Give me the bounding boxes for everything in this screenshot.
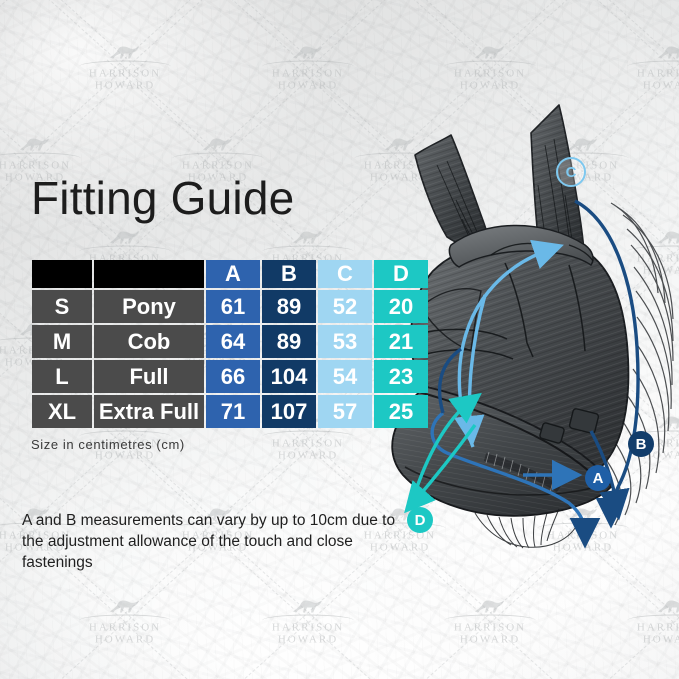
cell-size: XL [32, 395, 92, 428]
logo-arc [262, 615, 354, 621]
table-row: LFull661045423 [32, 360, 428, 393]
horse-logo-icon [248, 599, 368, 614]
cell-c: 52 [318, 290, 372, 323]
logo-arc [172, 153, 264, 159]
cell-c: 53 [318, 325, 372, 358]
logo-arc [79, 246, 171, 252]
brand-watermark: HARRISONHOWARD [613, 599, 679, 646]
horse-logo-icon [65, 230, 185, 245]
cell-d: 25 [374, 395, 428, 428]
watermark-line1: HARRISON [613, 622, 679, 634]
brand-watermark: HARRISONHOWARD [430, 599, 550, 646]
header-col-c: C [318, 260, 372, 288]
logo-arc [79, 61, 171, 67]
watermark-line2: HOWARD [248, 80, 368, 92]
brand-watermark: HARRISONHOWARD [65, 45, 185, 92]
watermark-line2: HOWARD [613, 634, 679, 646]
watermark-line1: HARRISON [430, 622, 550, 634]
logo-arc [79, 431, 171, 437]
watermark-line1: HARRISON [65, 68, 185, 80]
table-header-row: A B C D [32, 260, 428, 288]
header-blank-name [94, 260, 204, 288]
cell-a: 66 [206, 360, 260, 393]
watermark-line1: HARRISON [0, 160, 95, 172]
horse-logo-icon [248, 45, 368, 60]
cell-a: 61 [206, 290, 260, 323]
logo-arc [444, 61, 536, 67]
table-row: MCob64895321 [32, 325, 428, 358]
marker-c: C [556, 157, 586, 187]
logo-arc [0, 153, 81, 159]
watermark-line2: HOWARD [430, 634, 550, 646]
watermark-line2: HOWARD [248, 634, 368, 646]
horse-logo-icon [158, 137, 278, 152]
brand-watermark: HARRISONHOWARD [248, 599, 368, 646]
header-col-d: D [374, 260, 428, 288]
cell-d: 23 [374, 360, 428, 393]
brand-watermark: HARRISONHOWARD [65, 599, 185, 646]
horse-logo-icon [248, 230, 368, 245]
brand-watermark: HARRISONHOWARD [248, 45, 368, 92]
horse-logo-icon [0, 137, 95, 152]
watermark-line2: HOWARD [248, 450, 368, 462]
watermark-line1: HARRISON [248, 622, 368, 634]
cell-b: 104 [262, 360, 316, 393]
marker-a: A [585, 465, 611, 491]
watermark-line1: HARRISON [613, 68, 679, 80]
measurement-disclaimer: A and B measurements can vary by up to 1… [22, 510, 412, 573]
horse-logo-icon [613, 45, 679, 60]
cell-c: 57 [318, 395, 372, 428]
fitting-guide-image: HARRISONHOWARDHARRISONHOWARDHARRISONHOWA… [0, 0, 679, 679]
watermark-line1: HARRISON [65, 622, 185, 634]
horse-logo-icon [613, 599, 679, 614]
horse-logo-icon [65, 45, 185, 60]
logo-arc [627, 615, 679, 621]
cell-size: S [32, 290, 92, 323]
cell-name: Cob [94, 325, 204, 358]
cell-b: 89 [262, 290, 316, 323]
horse-logo-icon [430, 45, 550, 60]
cell-d: 20 [374, 290, 428, 323]
logo-arc [262, 246, 354, 252]
cell-name: Full [94, 360, 204, 393]
logo-arc [79, 615, 171, 621]
logo-arc [262, 61, 354, 67]
watermark-line2: HOWARD [430, 80, 550, 92]
size-unit-note: Size in centimetres (cm) [31, 437, 185, 452]
marker-b: B [628, 431, 654, 457]
watermark-line1: HARRISON [248, 438, 368, 450]
cell-b: 107 [262, 395, 316, 428]
horse-logo-icon [430, 599, 550, 614]
table-row: SPony61895220 [32, 290, 428, 323]
watermark-line2: HOWARD [613, 80, 679, 92]
table-row: XLExtra Full711075725 [32, 395, 428, 428]
brand-watermark: HARRISONHOWARD [613, 45, 679, 92]
watermark-line2: HOWARD [65, 634, 185, 646]
table-body: SPony61895220MCob64895321LFull661045423X… [32, 290, 428, 428]
cell-d: 21 [374, 325, 428, 358]
header-blank-size [32, 260, 92, 288]
cell-a: 64 [206, 325, 260, 358]
logo-arc [627, 61, 679, 67]
watermark-line2: HOWARD [65, 80, 185, 92]
horse-logo-icon [65, 599, 185, 614]
brand-watermark: HARRISONHOWARD [430, 45, 550, 92]
logo-arc [444, 615, 536, 621]
header-col-a: A [206, 260, 260, 288]
size-chart-table: A B C D SPony61895220MCob64895321LFull66… [30, 258, 430, 430]
watermark-line1: HARRISON [158, 160, 278, 172]
watermark-line1: HARRISON [248, 68, 368, 80]
cell-a: 71 [206, 395, 260, 428]
cell-name: Extra Full [94, 395, 204, 428]
cell-size: M [32, 325, 92, 358]
cell-size: L [32, 360, 92, 393]
header-col-b: B [262, 260, 316, 288]
page-title: Fitting Guide [31, 172, 294, 224]
logo-arc [262, 431, 354, 437]
cell-name: Pony [94, 290, 204, 323]
watermark-line1: HARRISON [430, 68, 550, 80]
cell-c: 54 [318, 360, 372, 393]
cell-b: 89 [262, 325, 316, 358]
